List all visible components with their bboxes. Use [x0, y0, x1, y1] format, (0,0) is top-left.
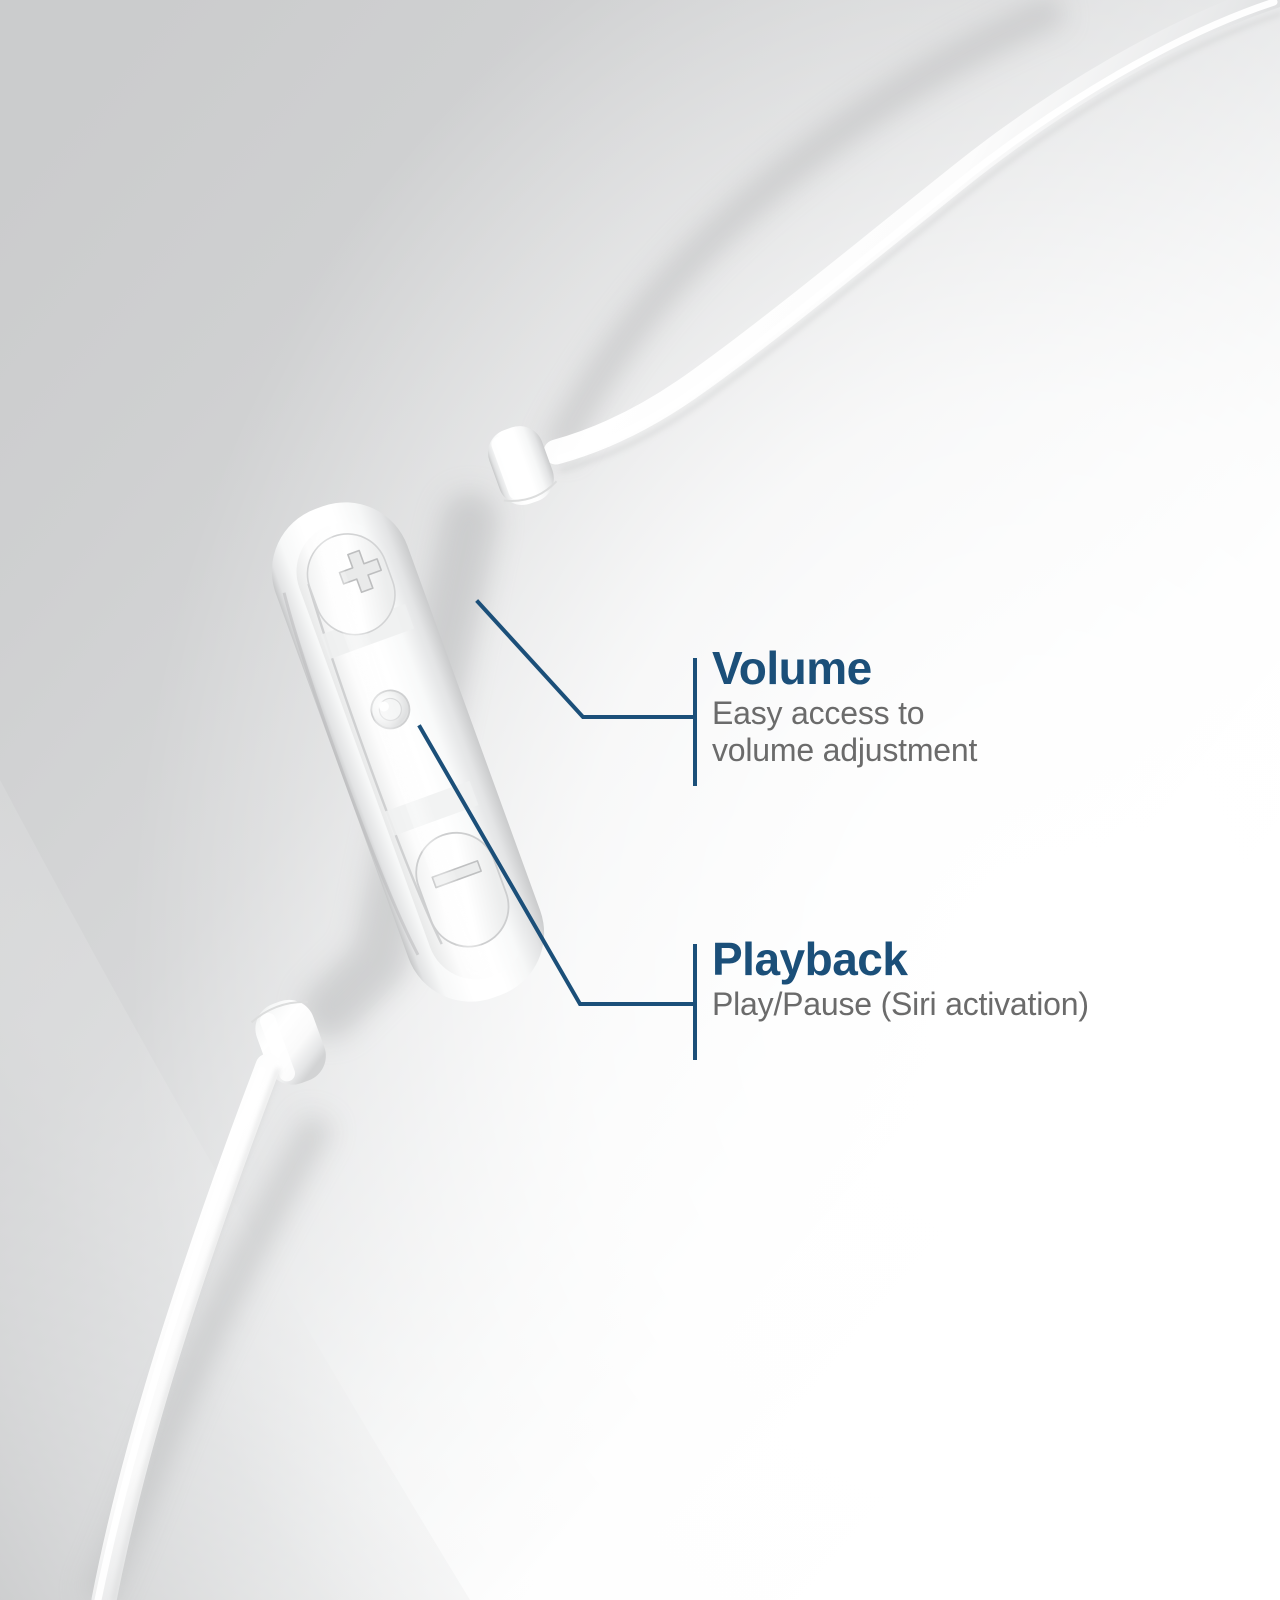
callout-playback-subtitle: Play/Pause (Siri activation) — [712, 986, 1089, 1023]
leader-line-volume — [478, 602, 695, 786]
callout-volume-subtitle-line-1: Easy access to — [712, 695, 977, 732]
callout-playback: Playback Play/Pause (Siri activation) — [712, 936, 1089, 1023]
callout-volume-title: Volume — [712, 645, 977, 691]
callout-volume: Volume Easy access to volume adjustment — [712, 645, 977, 769]
callout-playback-subtitle-line-1: Play/Pause (Siri activation) — [712, 986, 1089, 1023]
leader-line-playback — [420, 727, 695, 1060]
callout-playback-title: Playback — [712, 936, 1089, 982]
infographic-canvas: Volume Easy access to volume adjustment … — [0, 0, 1280, 1600]
callout-volume-subtitle: Easy access to volume adjustment — [712, 695, 977, 769]
callout-leader-lines — [0, 0, 1280, 1600]
callout-volume-subtitle-line-2: volume adjustment — [712, 732, 977, 769]
